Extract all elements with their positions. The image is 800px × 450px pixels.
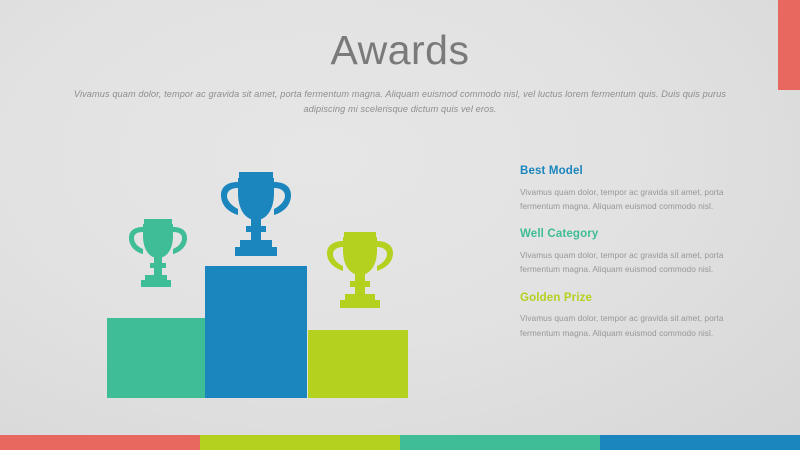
awards-list: Best Model Vivamus quam dolor, tempor ac… xyxy=(520,165,750,340)
slide-canvas: Awards Vivamus quam dolor, tempor ac gra… xyxy=(0,0,800,450)
page-subtitle: Vivamus quam dolor, tempor ac gravida si… xyxy=(62,87,738,117)
third-place-bar xyxy=(308,330,408,398)
award-heading-well-category: Well Category xyxy=(520,228,750,242)
bottom-bar-coral xyxy=(0,435,200,450)
trophy-lime-icon xyxy=(325,228,395,318)
bottom-bar-blue xyxy=(600,435,800,450)
bottom-bar-lime xyxy=(200,435,400,450)
second-place-bar xyxy=(107,318,207,398)
award-body-well-category: Vivamus quam dolor, tempor ac gravida si… xyxy=(520,248,750,277)
award-heading-golden-prize: Golden Prize xyxy=(520,292,750,306)
trophy-blue-icon xyxy=(218,167,294,267)
award-item-golden-prize: Golden Prize Vivamus quam dolor, tempor … xyxy=(520,292,750,340)
bottom-color-bar xyxy=(0,435,800,450)
first-place-bar xyxy=(205,266,307,398)
trophy-green-icon xyxy=(127,215,189,297)
podium-illustration xyxy=(95,160,420,405)
award-heading-best-model: Best Model xyxy=(520,165,750,179)
page-title: Awards xyxy=(0,28,800,73)
award-item-well-category: Well Category Vivamus quam dolor, tempor… xyxy=(520,228,750,276)
award-body-golden-prize: Vivamus quam dolor, tempor ac gravida si… xyxy=(520,311,750,340)
award-item-best-model: Best Model Vivamus quam dolor, tempor ac… xyxy=(520,165,750,213)
bottom-bar-teal xyxy=(400,435,600,450)
subtitle-line-1: Vivamus quam dolor, tempor ac gravida si… xyxy=(74,89,589,99)
award-body-best-model: Vivamus quam dolor, tempor ac gravida si… xyxy=(520,185,750,214)
